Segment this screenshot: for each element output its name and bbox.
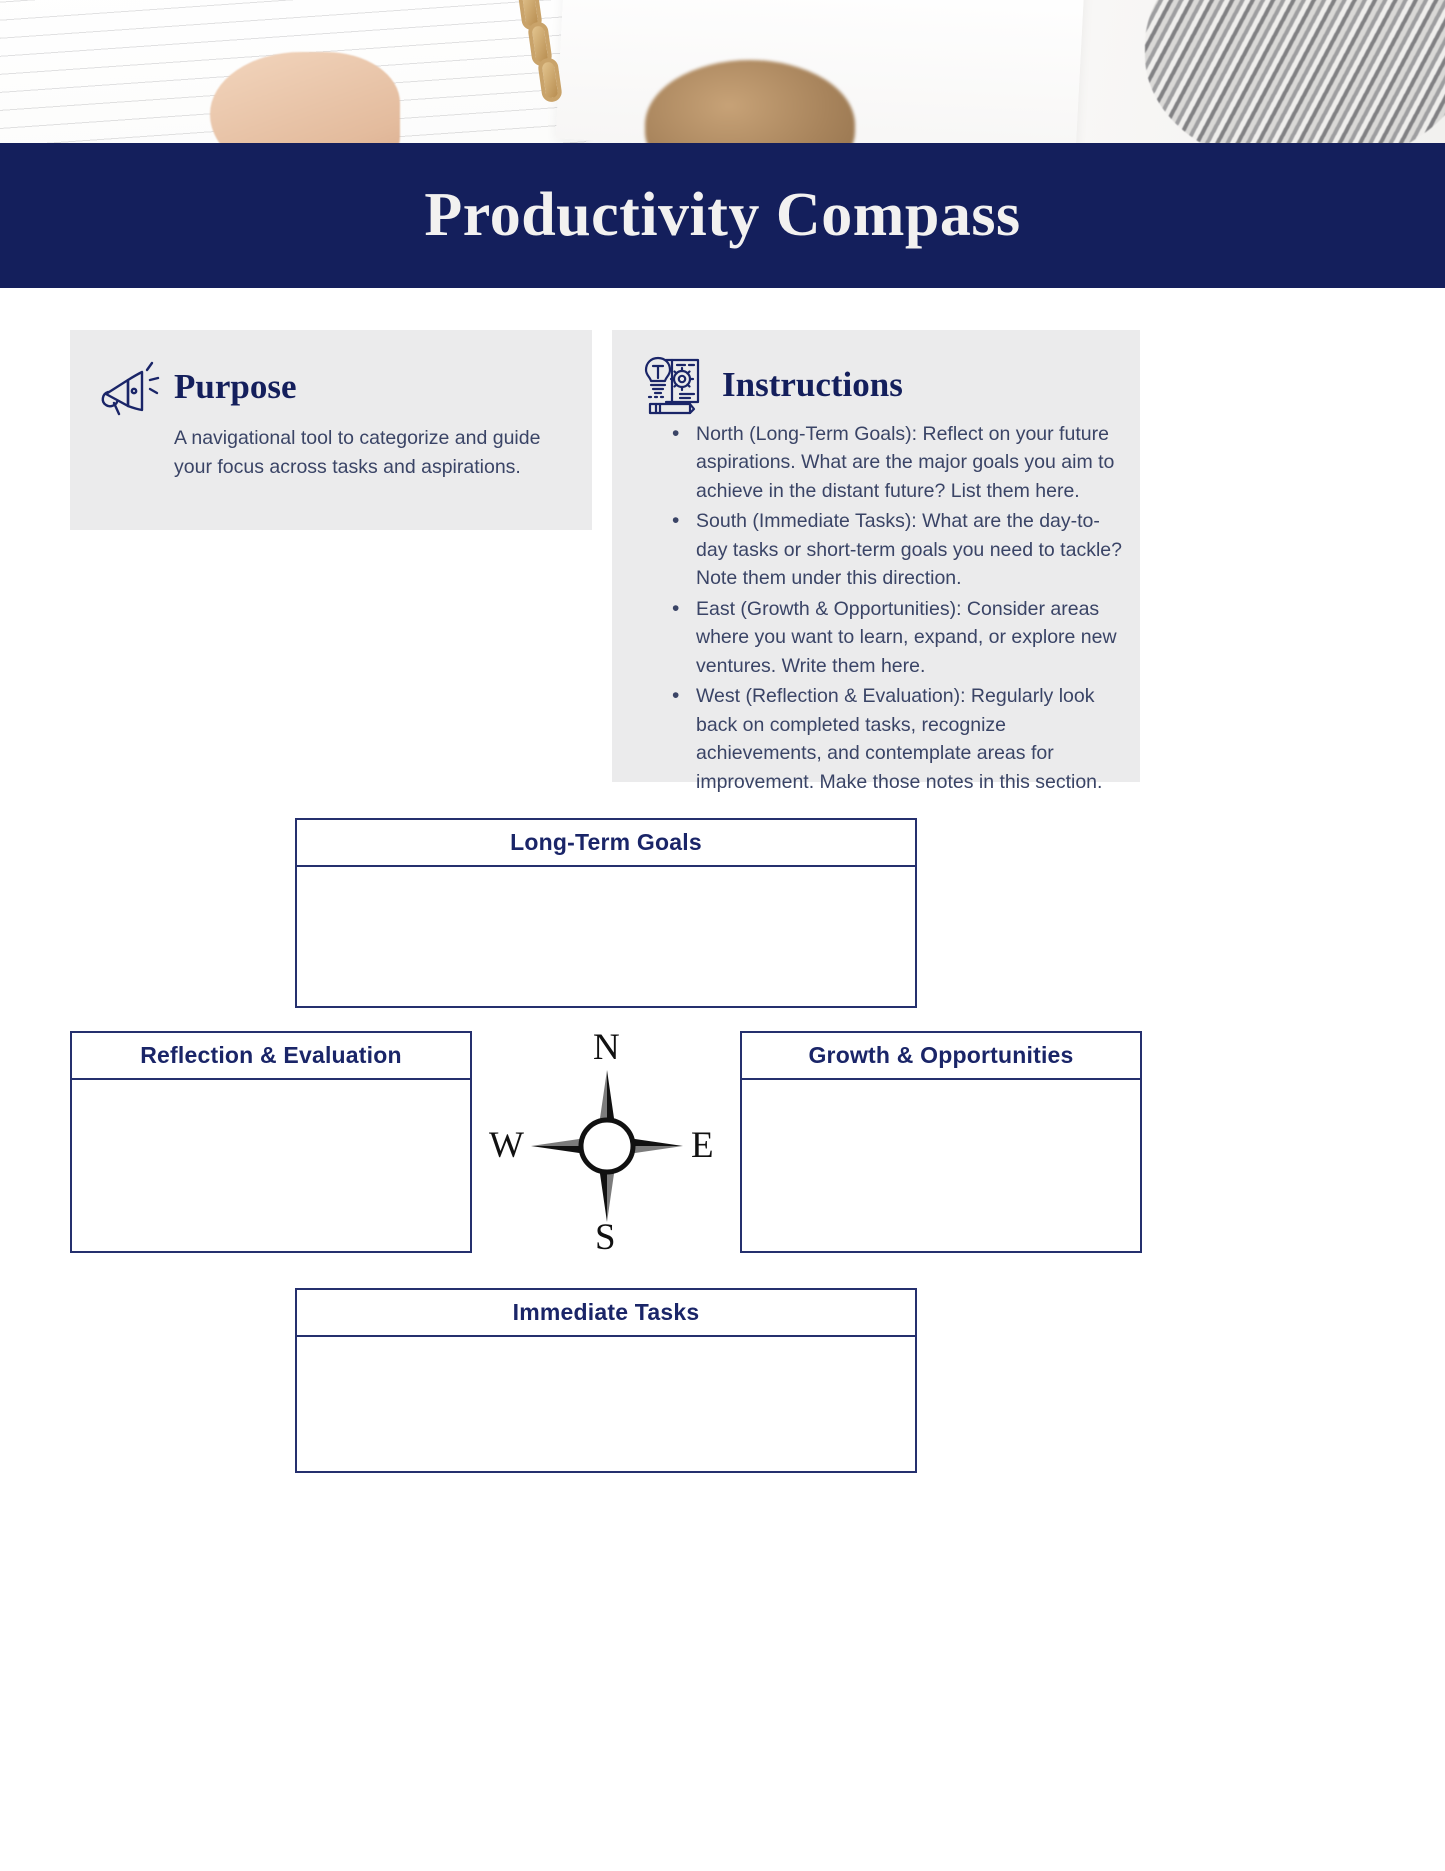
reflection-evaluation-box: Reflection & Evaluation bbox=[70, 1031, 472, 1253]
header-photo-banner bbox=[0, 0, 1445, 143]
list-item: South (Immediate Tasks): What are the da… bbox=[672, 507, 1122, 592]
instructions-card: Instructions North (Long-Term Goals): Re… bbox=[612, 330, 1140, 782]
purpose-title: Purpose bbox=[174, 367, 297, 407]
growth-opportunities-box: Growth & Opportunities bbox=[740, 1031, 1142, 1253]
instructions-title: Instructions bbox=[722, 365, 903, 405]
growth-opportunities-header: Growth & Opportunities bbox=[742, 1033, 1140, 1080]
list-item: East (Growth & Opportunities): Consider … bbox=[672, 595, 1122, 680]
list-item: West (Reflection & Evaluation): Regularl… bbox=[672, 682, 1122, 796]
immediate-tasks-input[interactable] bbox=[297, 1337, 915, 1471]
long-term-goals-label: Long-Term Goals bbox=[510, 829, 702, 856]
instructions-list: North (Long-Term Goals): Reflect on your… bbox=[612, 416, 1140, 796]
lightbulb-document-gear-icon bbox=[640, 354, 708, 416]
purpose-card: Purpose A navigational tool to categoriz… bbox=[70, 330, 592, 530]
page-title-bar: Productivity Compass bbox=[0, 143, 1445, 288]
megaphone-icon bbox=[98, 358, 160, 416]
immediate-tasks-box: Immediate Tasks bbox=[295, 1288, 917, 1473]
compass-east-label: E bbox=[691, 1124, 714, 1167]
instructions-card-header: Instructions bbox=[612, 330, 1140, 416]
list-item: North (Long-Term Goals): Reflect on your… bbox=[672, 420, 1122, 505]
reflection-evaluation-label: Reflection & Evaluation bbox=[140, 1042, 401, 1069]
growth-opportunities-label: Growth & Opportunities bbox=[808, 1042, 1073, 1069]
reflection-evaluation-input[interactable] bbox=[72, 1080, 470, 1251]
growth-opportunities-input[interactable] bbox=[742, 1080, 1140, 1251]
long-term-goals-input[interactable] bbox=[297, 867, 915, 1006]
purpose-text: A navigational tool to categorize and gu… bbox=[70, 416, 592, 482]
immediate-tasks-label: Immediate Tasks bbox=[513, 1299, 700, 1326]
page-title: Productivity Compass bbox=[424, 180, 1020, 251]
knit-sweater-photo-element bbox=[1145, 0, 1445, 143]
long-term-goals-header: Long-Term Goals bbox=[297, 820, 915, 867]
reflection-evaluation-header: Reflection & Evaluation bbox=[72, 1033, 470, 1080]
long-term-goals-box: Long-Term Goals bbox=[295, 818, 917, 1008]
compass-star-icon bbox=[527, 1066, 687, 1226]
compass-north-label: N bbox=[593, 1026, 620, 1069]
compass-west-label: W bbox=[489, 1124, 524, 1167]
purpose-card-header: Purpose bbox=[70, 330, 592, 416]
compass-rose: N S W E bbox=[483, 1020, 729, 1270]
immediate-tasks-header: Immediate Tasks bbox=[297, 1290, 915, 1337]
